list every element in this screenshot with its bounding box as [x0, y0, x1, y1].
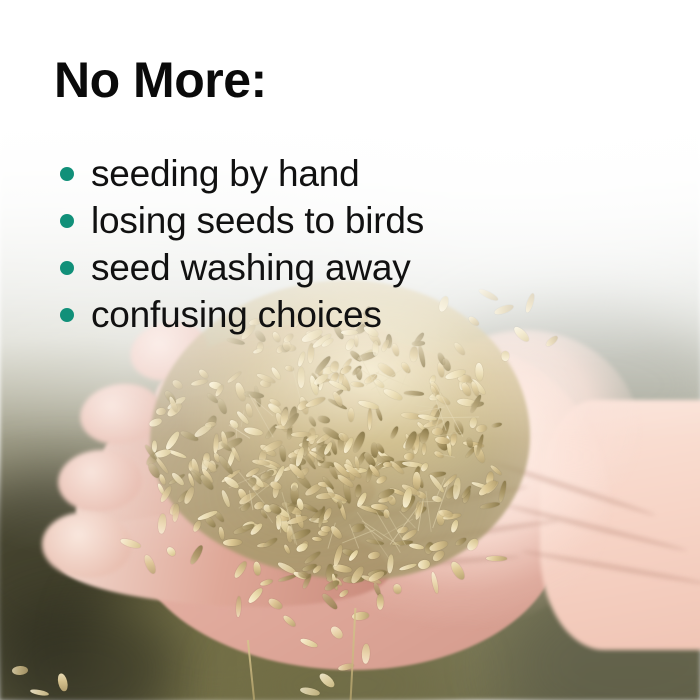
list-item: seeding by hand: [60, 150, 424, 197]
bullet-dot-icon: [60, 308, 74, 322]
list-item-label: confusing choices: [91, 296, 382, 333]
list-item-label: losing seeds to birds: [91, 202, 424, 239]
text-content: No More: seeding by handlosing seeds to …: [0, 0, 700, 700]
list-item: losing seeds to birds: [60, 197, 424, 244]
bullet-dot-icon: [60, 261, 74, 275]
list-item-label: seeding by hand: [91, 155, 360, 192]
bullet-dot-icon: [60, 214, 74, 228]
list-item-label: seed washing away: [91, 249, 411, 286]
bullet-dot-icon: [60, 167, 74, 181]
page-title: No More:: [54, 54, 267, 107]
list-item: seed washing away: [60, 244, 424, 291]
list-item: confusing choices: [60, 291, 424, 338]
bullet-list: seeding by handlosing seeds to birdsseed…: [60, 150, 424, 338]
promo-poster: No More: seeding by handlosing seeds to …: [0, 0, 700, 700]
